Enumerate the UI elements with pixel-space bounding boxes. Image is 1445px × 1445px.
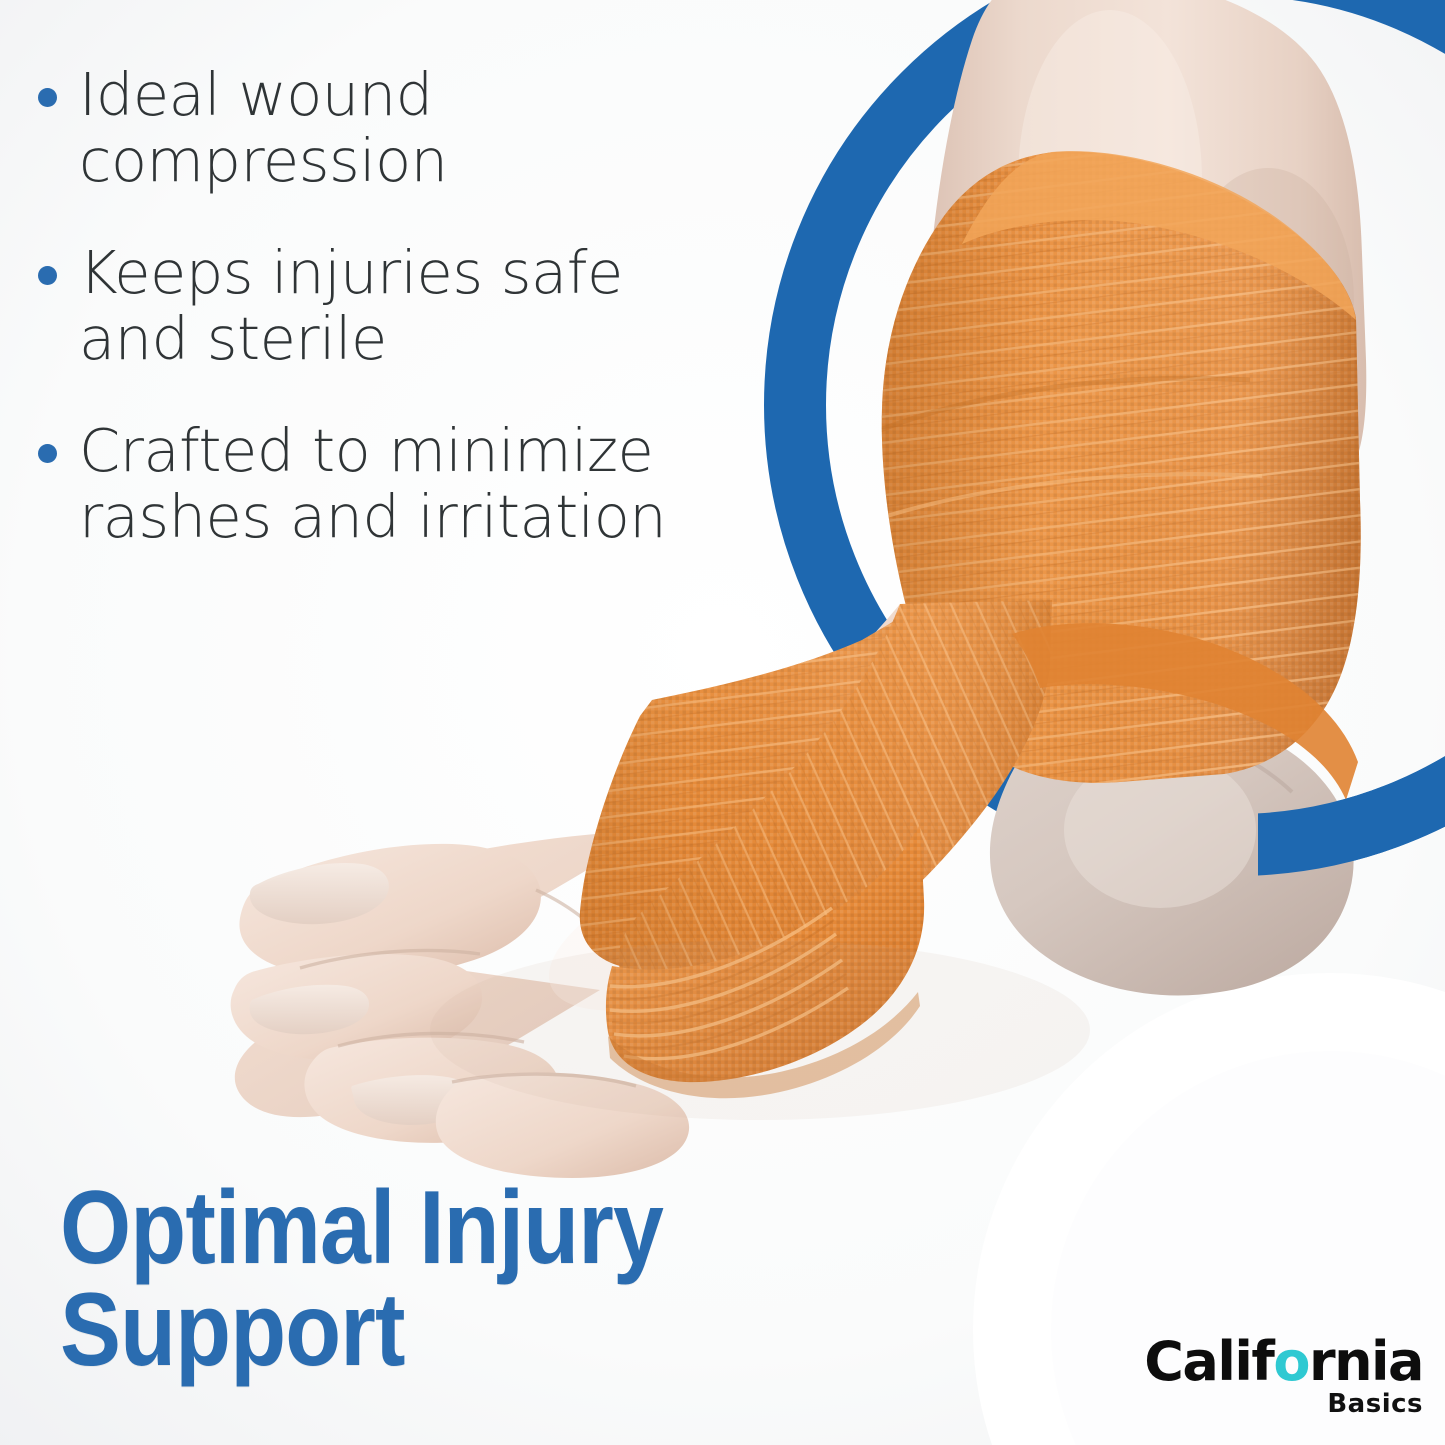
feature-bullet-text: Ideal wound compression <box>79 62 728 194</box>
brand-logo: California Basics <box>1144 1335 1423 1417</box>
product-feature-poster: Ideal wound compression Keeps injuries s… <box>0 0 1445 1445</box>
page-title: Optimal Injury Support <box>60 1178 663 1382</box>
feature-bullet-item: Ideal wound compression <box>38 62 728 194</box>
brand-logo-subtitle: Basics <box>1144 1391 1423 1417</box>
logo-text-after: rnia <box>1309 1330 1423 1393</box>
logo-text-before: Calif <box>1144 1330 1273 1393</box>
feature-bullet-list: Ideal wound compression Keeps injuries s… <box>38 62 728 596</box>
brand-logo-wordmark: California <box>1144 1335 1423 1389</box>
feature-bullet-text: Crafted to minimize rashes and irritatio… <box>79 418 728 550</box>
bullet-dot-icon <box>38 266 57 285</box>
feature-bullet-text: Keeps injuries safe and sterile <box>79 240 728 372</box>
bullet-dot-icon <box>38 88 57 107</box>
feature-bullet-item: Keeps injuries safe and sterile <box>38 240 728 372</box>
bullet-dot-icon <box>38 444 57 463</box>
logo-accent-o: o <box>1273 1330 1309 1393</box>
feature-bullet-item: Crafted to minimize rashes and irritatio… <box>38 418 728 550</box>
